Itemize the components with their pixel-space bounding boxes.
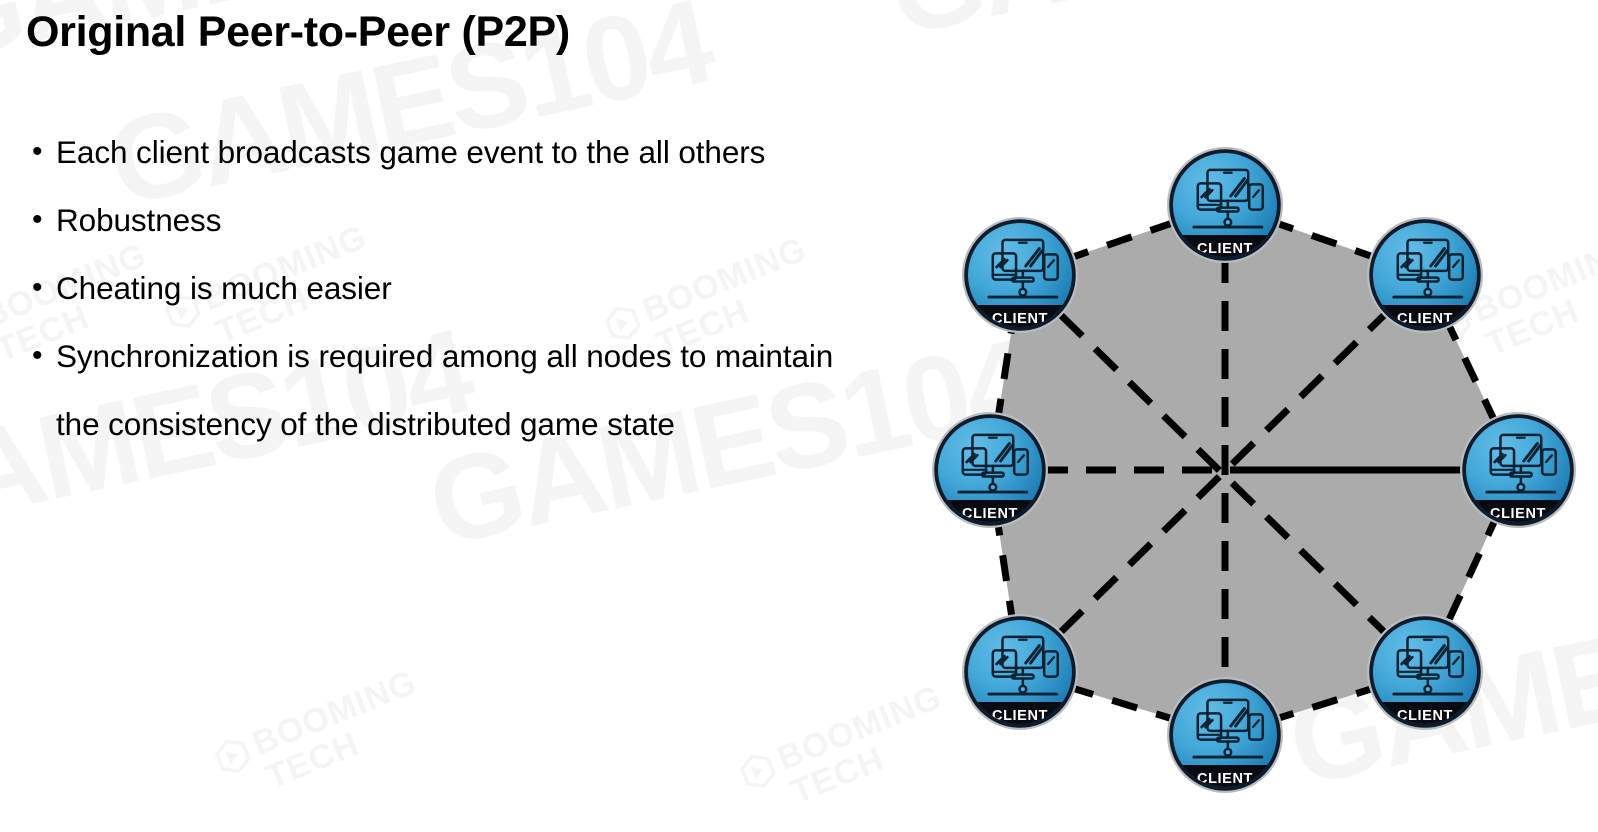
client-node[interactable]: CLIENT <box>1169 679 1282 792</box>
slide-canvas: GAMES104GAMES104GAMES104GAMES104GAMES104… <box>0 0 1598 832</box>
list-item-label: Synchronization is required among all no… <box>56 322 870 458</box>
list-item: • Synchronization is required among all … <box>20 322 870 458</box>
bullet-marker-icon: • <box>20 118 56 186</box>
client-node[interactable]: CLIENT <box>934 414 1047 527</box>
client-node[interactable]: CLIENT <box>1462 414 1575 527</box>
bullet-list: • Each client broadcasts game event to t… <box>20 118 870 458</box>
topology-svg: CLIENTCLIENTCLIENTCLIENTCLIENTCLIENTCLIE… <box>880 120 1598 832</box>
list-item-label: Robustness <box>56 186 870 254</box>
client-node[interactable]: CLIENT <box>1169 149 1282 262</box>
page-title: Original Peer-to-Peer (P2P) <box>26 8 570 57</box>
client-node[interactable]: CLIENT <box>964 219 1077 332</box>
bullet-marker-icon: • <box>20 322 56 390</box>
bullet-marker-icon: • <box>20 186 56 254</box>
list-item: • Each client broadcasts game event to t… <box>20 118 870 186</box>
client-node[interactable]: CLIENT <box>1369 616 1482 729</box>
bullet-marker-icon: • <box>20 254 56 322</box>
list-item: • Cheating is much easier <box>20 254 870 322</box>
list-item-label: Each client broadcasts game event to the… <box>56 118 870 186</box>
client-node[interactable]: CLIENT <box>964 616 1077 729</box>
list-item-label: Cheating is much easier <box>56 254 870 322</box>
peer-to-peer-topology-diagram: CLIENTCLIENTCLIENTCLIENTCLIENTCLIENTCLIE… <box>880 120 1598 832</box>
list-item: • Robustness <box>20 186 870 254</box>
client-node[interactable]: CLIENT <box>1369 219 1482 332</box>
